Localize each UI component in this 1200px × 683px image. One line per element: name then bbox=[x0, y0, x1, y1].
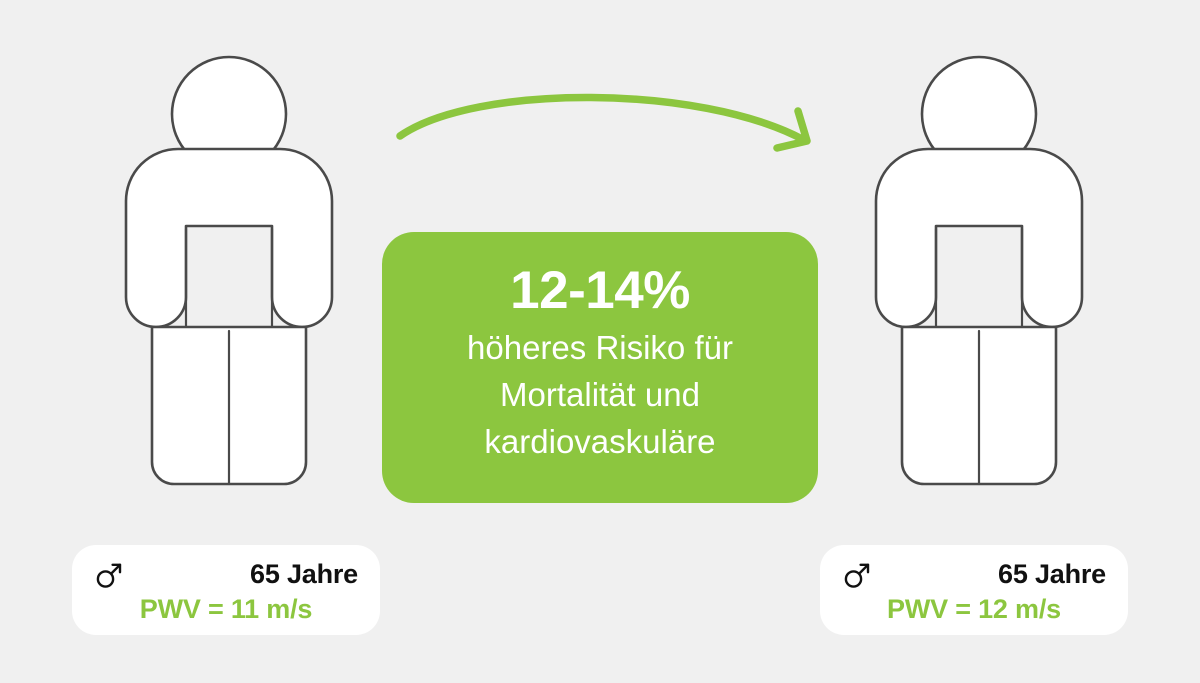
person-figure-icon bbox=[100, 44, 360, 514]
progression-arrow bbox=[380, 78, 830, 178]
person-figure-icon bbox=[850, 44, 1110, 514]
patient-card-right-top-row: 65 Jahre bbox=[842, 557, 1106, 592]
male-symbol-icon bbox=[842, 560, 872, 590]
patient-age-right: 65 Jahre bbox=[998, 559, 1106, 590]
curved-arrow-right-icon bbox=[380, 78, 830, 178]
person-figure-right bbox=[850, 44, 1110, 514]
patient-pwv-left: PWV = 11 m/s bbox=[94, 594, 358, 625]
patient-pwv-right: PWV = 12 m/s bbox=[842, 594, 1106, 625]
patient-card-left: 65 Jahre PWV = 11 m/s bbox=[72, 545, 380, 635]
patient-age-left: 65 Jahre bbox=[250, 559, 358, 590]
patient-card-left-top-row: 65 Jahre bbox=[94, 557, 358, 592]
risk-percentage: 12-14% bbox=[510, 264, 690, 318]
person-figure-left bbox=[100, 44, 360, 514]
infographic-canvas: 12-14% höheres Risiko für Mortalität und… bbox=[0, 0, 1200, 683]
male-symbol-icon bbox=[94, 560, 124, 590]
patient-card-right: 65 Jahre PWV = 12 m/s bbox=[820, 545, 1128, 635]
risk-description: höheres Risiko für Mortalität und kardio… bbox=[467, 324, 733, 465]
risk-callout-box: 12-14% höheres Risiko für Mortalität und… bbox=[382, 232, 818, 503]
